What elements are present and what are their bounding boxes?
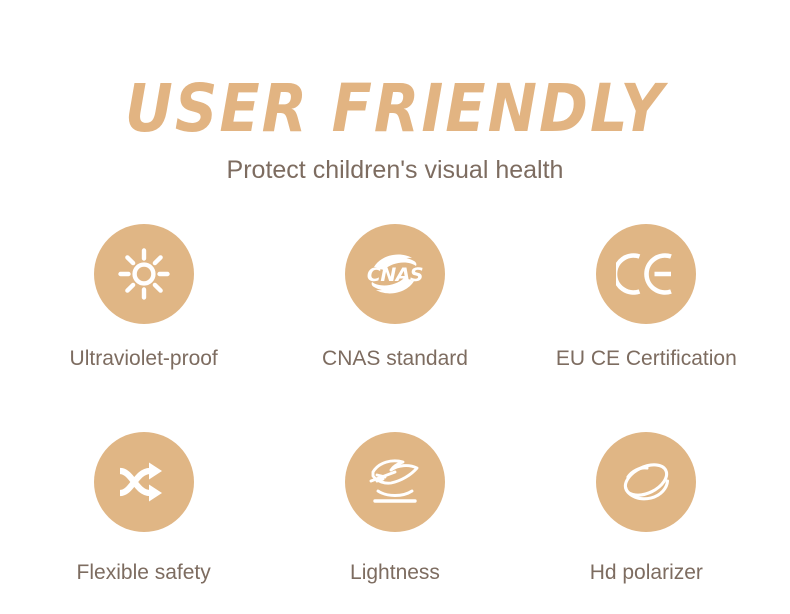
lens-icon <box>618 457 674 507</box>
feature-badge <box>94 432 194 532</box>
feature-badge: CNAS <box>345 224 445 324</box>
feature-label: EU CE Certification <box>556 346 737 372</box>
cnas-logo-icon: CNAS <box>364 243 426 305</box>
cnas-wordmark: CNAS <box>367 264 423 286</box>
sun-icon <box>115 245 173 303</box>
feature-item-hd-polarizer[interactable]: Hd polarizer <box>521 432 772 586</box>
feature-badge <box>345 432 445 532</box>
feature-item-flexible-safety[interactable]: Flexible safety <box>18 432 269 586</box>
user-friendly-feature-panel: USER FRIENDLY Protect children's visual … <box>0 0 790 614</box>
feature-label: Flexible safety <box>77 560 211 586</box>
feature-row-1: Ultraviolet-proof CNAS <box>0 224 790 372</box>
feature-item-eu-ce-certification[interactable]: EU CE Certification <box>521 224 772 372</box>
feature-badge <box>596 224 696 324</box>
ce-mark-icon <box>616 249 676 299</box>
feature-label: Ultraviolet-proof <box>70 346 218 372</box>
feature-item-cnas-standard[interactable]: CNAS CNAS standard <box>269 224 520 372</box>
feature-label: Hd polarizer <box>590 560 703 586</box>
feature-label: Lightness <box>350 560 440 586</box>
feature-badge <box>596 432 696 532</box>
feature-item-ultraviolet-proof[interactable]: Ultraviolet-proof <box>18 224 269 372</box>
feature-item-lightness[interactable]: Lightness <box>269 432 520 586</box>
header: USER FRIENDLY Protect children's visual … <box>0 0 790 185</box>
feature-badge <box>94 224 194 324</box>
feature-grid: Ultraviolet-proof CNAS <box>0 224 790 586</box>
feather-icon <box>365 455 425 509</box>
page-title: USER FRIENDLY <box>0 0 790 143</box>
feature-row-2: Flexible safety <box>0 432 790 586</box>
feature-label: CNAS standard <box>322 346 468 372</box>
shuffle-arrows-icon <box>116 458 172 506</box>
